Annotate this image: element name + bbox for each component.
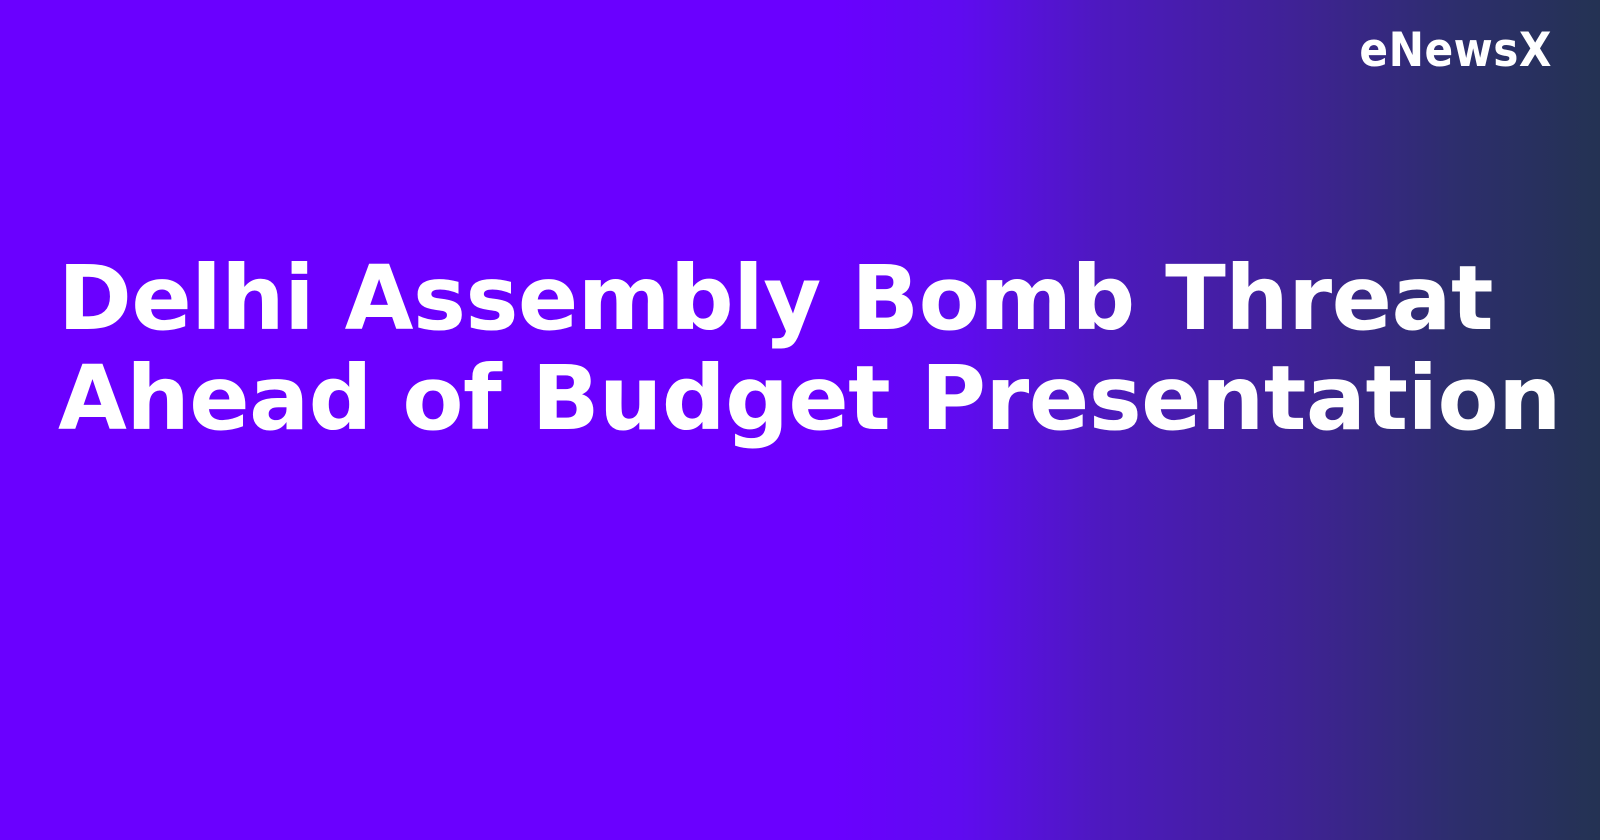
page-title: Delhi Assembly Bomb Threat Ahead of Budg…: [58, 248, 1538, 448]
headline-line-2: Ahead of Budget Presentation: [58, 348, 1538, 448]
brand-logo[interactable]: eNewsX: [1359, 26, 1552, 77]
news-banner-card: eNewsX Delhi Assembly Bomb Threat Ahead …: [0, 0, 1600, 840]
brand-wordmark-text: eNewsX: [1359, 26, 1552, 77]
headline-block: Delhi Assembly Bomb Threat Ahead of Budg…: [58, 248, 1538, 448]
headline-line-1: Delhi Assembly Bomb Threat: [58, 248, 1538, 348]
